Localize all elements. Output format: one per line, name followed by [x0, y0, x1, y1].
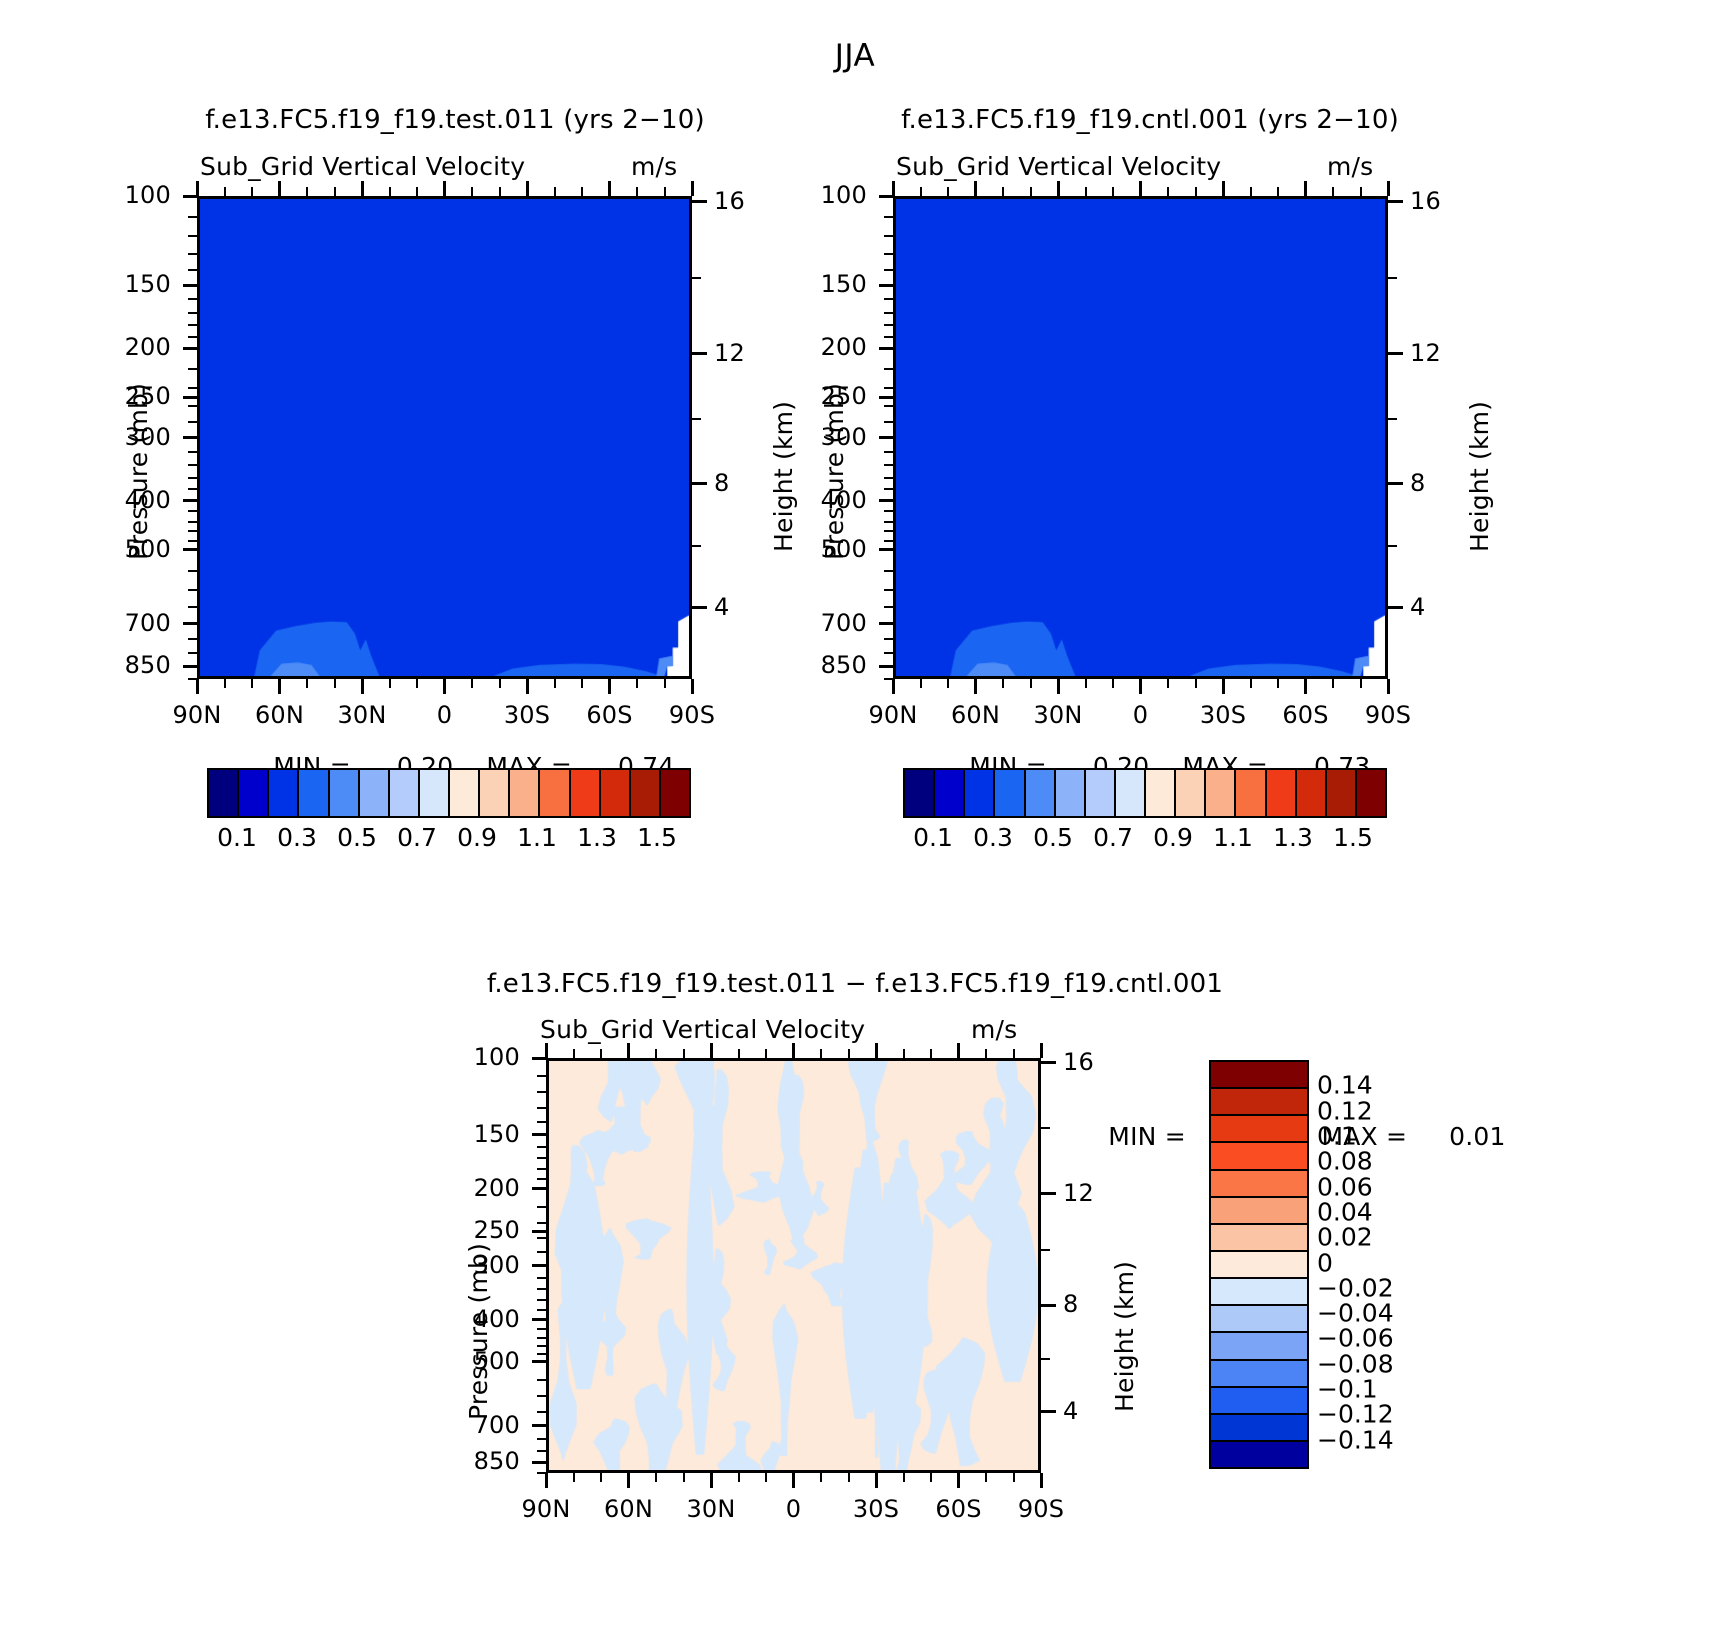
- colorbar-swatch[interactable]: [1211, 1171, 1307, 1198]
- colorbar-tick-label: −0.14: [1317, 1425, 1394, 1454]
- latitude-tick-minor: [636, 679, 638, 688]
- pressure-tick-minor: [537, 1075, 546, 1077]
- pressure-tick-major: [532, 1360, 547, 1363]
- height-tick-label: 16: [1063, 1048, 1094, 1076]
- colorbar-swatch[interactable]: [450, 770, 480, 816]
- pressure-tick-minor: [884, 336, 893, 338]
- latitude-tick-major: [1222, 679, 1225, 694]
- pressure-tick-minor: [537, 1237, 546, 1239]
- colorbar-swatch[interactable]: [510, 770, 540, 816]
- colorbar-swatch[interactable]: [540, 770, 570, 816]
- pressure-tick-minor: [188, 510, 197, 512]
- colorbar-labels-cntl: 0.10.30.50.70.91.11.31.5: [903, 823, 1383, 853]
- latitude-tick-top-major: [545, 1043, 548, 1058]
- latitude-tick-top-major: [1387, 181, 1390, 196]
- pressure-tick-minor: [884, 298, 893, 300]
- colorbar-labels-test: 0.10.30.50.70.91.11.31.5: [207, 823, 687, 853]
- pressure-tick-minor: [884, 405, 893, 407]
- height-tick-minor: [692, 418, 701, 420]
- colorbar-swatch[interactable]: [269, 770, 299, 816]
- colorbar-swatch[interactable]: [631, 770, 661, 816]
- latitude-tick-top-major: [1304, 181, 1307, 196]
- latitude-tick-label: 90S: [669, 701, 715, 729]
- colorbar-tick-label: 1.5: [1333, 823, 1373, 852]
- latitude-tick-minor: [499, 679, 501, 688]
- height-tick-label: 12: [1410, 339, 1441, 367]
- colorbar-swatch[interactable]: [1211, 1333, 1307, 1360]
- latitude-tick-minor: [1002, 679, 1004, 688]
- pressure-tick-minor: [884, 451, 893, 453]
- latitude-tick-major: [278, 679, 281, 694]
- latitude-tick-label: 90N: [868, 701, 917, 729]
- pressure-tick-minor: [884, 216, 893, 218]
- latitude-tick-top-major: [892, 181, 895, 196]
- colorbar-absolute-cntl[interactable]: [903, 768, 1387, 818]
- height-tick-major: [1041, 1410, 1056, 1413]
- pressure-tick-minor: [188, 638, 197, 640]
- colorbar-swatch[interactable]: [905, 770, 935, 816]
- pressure-tick-major: [879, 195, 894, 198]
- pressure-tick-minor: [188, 589, 197, 591]
- panel-units-label-difference: m/s: [971, 1015, 1017, 1044]
- pressure-tick-minor: [188, 336, 197, 338]
- panel-variable-label-cntl: Sub_Grid Vertical Velocity: [896, 152, 1221, 181]
- colorbar-tick-label: 0.7: [1093, 823, 1133, 852]
- height-tick-major: [692, 606, 707, 609]
- colorbar-swatch[interactable]: [1211, 1415, 1307, 1442]
- latitude-tick-top-minor: [1167, 187, 1169, 196]
- pressure-tick-minor: [188, 253, 197, 255]
- pressure-tick-label: 700: [821, 609, 867, 637]
- latitude-tick-top-major: [974, 181, 977, 196]
- colorbar-swatch[interactable]: [1211, 1143, 1307, 1170]
- pressure-tick-major: [879, 499, 894, 502]
- pressure-tick-minor: [537, 1395, 546, 1397]
- latitude-tick-top-minor: [1360, 187, 1362, 196]
- height-tick-minor: [1388, 418, 1397, 420]
- height-tick-label: 16: [714, 187, 745, 215]
- colorbar-swatch[interactable]: [239, 770, 269, 816]
- latitude-tick-top-minor: [1112, 187, 1114, 196]
- height-tick-minor: [1041, 1249, 1050, 1251]
- pressure-tick-minor: [188, 405, 197, 407]
- colorbar-swatch[interactable]: [360, 770, 390, 816]
- max-value-difference: 0.01: [1449, 1122, 1505, 1151]
- pressure-tick-minor: [537, 1168, 546, 1170]
- height-tick-major: [1041, 1192, 1056, 1195]
- latitude-tick-major: [196, 679, 199, 694]
- height-tick-major: [1388, 482, 1403, 485]
- colorbar-swatch[interactable]: [330, 770, 360, 816]
- pressure-tick-minor: [884, 368, 893, 370]
- pressure-tick-minor: [188, 324, 197, 326]
- height-tick-label: 8: [1410, 469, 1425, 497]
- latitude-tick-minor: [765, 1473, 767, 1482]
- height-tick-label: 4: [1063, 1397, 1078, 1425]
- pressure-tick-minor: [188, 570, 197, 572]
- latitude-tick-top-minor: [920, 187, 922, 196]
- pressure-tick-label: 850: [474, 1447, 520, 1475]
- colorbar-swatch[interactable]: [1211, 1279, 1307, 1306]
- pressure-tick-major: [183, 548, 198, 551]
- latitude-tick-minor: [416, 679, 418, 688]
- latitude-tick-top-major: [526, 181, 529, 196]
- colorbar-swatch[interactable]: [1211, 1116, 1307, 1143]
- pressure-tick-minor: [188, 269, 197, 271]
- latitude-tick-top-minor: [664, 187, 666, 196]
- latitude-tick-minor: [306, 679, 308, 688]
- height-tick-major: [692, 200, 707, 203]
- pressure-tick-minor: [537, 1411, 546, 1413]
- colorbar-tick-label: 0.3: [277, 823, 317, 852]
- pressure-tick-label: 300: [474, 1251, 520, 1279]
- colorbar-swatch[interactable]: [1026, 770, 1056, 816]
- latitude-tick-top-minor: [554, 187, 556, 196]
- pressure-tick-major: [879, 665, 894, 668]
- pressure-tick-label: 850: [821, 651, 867, 679]
- colorbar-swatch[interactable]: [935, 770, 965, 816]
- colorbar-swatch[interactable]: [1211, 1252, 1307, 1279]
- pressure-tick-minor: [884, 638, 893, 640]
- colorbar-swatch[interactable]: [480, 770, 510, 816]
- latitude-tick-top-minor: [848, 1049, 850, 1058]
- latitude-tick-top-minor: [499, 187, 501, 196]
- colorbar-tick-label: 0.1: [217, 823, 257, 852]
- min-label-difference: MIN =: [1108, 1122, 1186, 1151]
- pressure-tick-label: 100: [125, 181, 171, 209]
- pressure-tick-minor: [188, 488, 197, 490]
- latitude-tick-major: [691, 679, 694, 694]
- pressure-tick-minor: [884, 269, 893, 271]
- pressure-tick-label: 250: [125, 382, 171, 410]
- colorbar-tick-label: 1.1: [517, 823, 557, 852]
- height-tick-major: [1388, 200, 1403, 203]
- pressure-tick-minor: [188, 464, 197, 466]
- latitude-tick-top-major: [957, 1043, 960, 1058]
- pressure-tick-minor: [884, 312, 893, 314]
- latitude-tick-label: 90S: [1018, 1495, 1064, 1523]
- pressure-tick-major: [183, 436, 198, 439]
- latitude-tick-top-minor: [1332, 187, 1334, 196]
- latitude-tick-label: 90S: [1365, 701, 1411, 729]
- latitude-tick-major: [974, 679, 977, 694]
- pressure-tick-minor: [884, 253, 893, 255]
- latitude-tick-top-major: [1040, 1043, 1043, 1058]
- latitude-tick-minor: [664, 679, 666, 688]
- colorbar-swatch[interactable]: [1146, 770, 1176, 816]
- latitude-tick-top-minor: [1277, 187, 1279, 196]
- colorbar-swatch[interactable]: [1211, 1306, 1307, 1333]
- pressure-tick-minor: [537, 1091, 546, 1093]
- pressure-tick-minor: [188, 451, 197, 453]
- colorbar-swatch[interactable]: [1357, 770, 1385, 816]
- colorbar-tick-label: 0.9: [1153, 823, 1193, 852]
- contour-field-difference: [549, 1061, 1038, 1470]
- colorbar-swatch[interactable]: [1267, 770, 1297, 816]
- height-tick-label: 8: [714, 469, 729, 497]
- pressure-tick-minor: [537, 1438, 546, 1440]
- latitude-tick-top-minor: [903, 1049, 905, 1058]
- latitude-tick-top-major: [278, 181, 281, 196]
- latitude-tick-major: [957, 1473, 960, 1488]
- latitude-tick-top-minor: [573, 1049, 575, 1058]
- latitude-tick-top-minor: [1085, 187, 1087, 196]
- pressure-tick-minor: [537, 1299, 546, 1301]
- pressure-tick-label: 400: [821, 486, 867, 514]
- colorbar-swatch[interactable]: [965, 770, 995, 816]
- latitude-tick-top-minor: [683, 1049, 685, 1058]
- colorbar-swatch[interactable]: [209, 770, 239, 816]
- pressure-tick-minor: [884, 521, 893, 523]
- latitude-tick-top-minor: [224, 187, 226, 196]
- pressure-tick-label: 400: [125, 486, 171, 514]
- colorbar-swatch[interactable]: [1211, 1361, 1307, 1388]
- pressure-tick-major: [183, 665, 198, 668]
- pressure-tick-minor: [884, 477, 893, 479]
- latitude-tick-label: 90N: [172, 701, 221, 729]
- pressure-tick-major: [879, 284, 894, 287]
- pressure-tick-major: [532, 1461, 547, 1464]
- pressure-tick-label: 850: [125, 651, 171, 679]
- height-tick-label: 4: [1410, 593, 1425, 621]
- height-tick-minor: [1388, 277, 1397, 279]
- pressure-tick-minor: [537, 1450, 546, 1452]
- colorbar-tick-label: 0.3: [973, 823, 1013, 852]
- height-tick-major: [692, 352, 707, 355]
- colorbar-swatch[interactable]: [1236, 770, 1266, 816]
- colorbar-difference[interactable]: [1209, 1060, 1309, 1469]
- panel-title-cntl: f.e13.FC5.f19_f19.cntl.001 (yrs 2−10): [755, 105, 1545, 135]
- height-tick-minor: [692, 545, 701, 547]
- pressure-tick-label: 500: [474, 1347, 520, 1375]
- pressure-tick-major: [879, 396, 894, 399]
- colorbar-swatch[interactable]: [390, 770, 420, 816]
- colorbar-swatch[interactable]: [1086, 770, 1116, 816]
- latitude-tick-top-major: [792, 1043, 795, 1058]
- latitude-tick-major: [1304, 679, 1307, 694]
- latitude-tick-major: [875, 1473, 878, 1488]
- latitude-tick-major: [792, 1473, 795, 1488]
- colorbar-swatch[interactable]: [1327, 770, 1357, 816]
- colorbar-tick-label: 0.9: [457, 823, 497, 852]
- latitude-tick-top-minor: [1013, 1049, 1015, 1058]
- latitude-tick-minor: [1167, 679, 1169, 688]
- colorbar-swatch[interactable]: [1211, 1089, 1307, 1116]
- latitude-tick-top-minor: [471, 187, 473, 196]
- pressure-tick-major: [879, 622, 894, 625]
- pressure-tick-major: [532, 1187, 547, 1190]
- latitude-tick-minor: [985, 1473, 987, 1482]
- height-tick-label: 8: [1063, 1290, 1078, 1318]
- latitude-tick-major: [608, 679, 611, 694]
- latitude-tick-top-minor: [930, 1049, 932, 1058]
- pressure-tick-label: 150: [474, 1120, 520, 1148]
- pressure-tick-major: [183, 195, 198, 198]
- colorbar-swatch[interactable]: [1297, 770, 1327, 816]
- colorbar-swatch[interactable]: [601, 770, 631, 816]
- pressure-tick-minor: [884, 464, 893, 466]
- latitude-tick-minor: [930, 1473, 932, 1482]
- colorbar-tick-label: 1.5: [637, 823, 677, 852]
- y2-axis-label-difference: Height (km): [1110, 1261, 1139, 1412]
- pressure-tick-minor: [884, 678, 893, 680]
- panel-units-label-test: m/s: [631, 152, 677, 181]
- height-tick-label: 12: [714, 339, 745, 367]
- colorbar-tick-label: 0.5: [337, 823, 377, 852]
- height-tick-label: 16: [1410, 187, 1441, 215]
- colorbar-swatch[interactable]: [661, 770, 689, 816]
- pressure-tick-minor: [884, 652, 893, 654]
- pressure-tick-minor: [188, 652, 197, 654]
- colorbar-tick-label: 0.5: [1033, 823, 1073, 852]
- pressure-tick-minor: [537, 1146, 546, 1148]
- colorbar-tick-label: 0.7: [397, 823, 437, 852]
- panel-variable-label-difference: Sub_Grid Vertical Velocity: [540, 1015, 865, 1044]
- height-tick-major: [1041, 1061, 1056, 1064]
- pressure-tick-minor: [537, 1206, 546, 1208]
- pressure-tick-minor: [537, 1328, 546, 1330]
- pressure-tick-major: [183, 622, 198, 625]
- pressure-tick-minor: [884, 540, 893, 542]
- latitude-tick-major: [627, 1473, 630, 1488]
- height-tick-minor: [692, 277, 701, 279]
- latitude-tick-top-major: [875, 1043, 878, 1058]
- pressure-tick-minor: [188, 678, 197, 680]
- pressure-tick-minor: [188, 387, 197, 389]
- colorbar-swatch[interactable]: [1211, 1388, 1307, 1415]
- latitude-tick-minor: [1030, 679, 1032, 688]
- colorbar-swatch[interactable]: [420, 770, 450, 816]
- pressure-tick-major: [532, 1057, 547, 1060]
- height-tick-major: [1041, 1304, 1056, 1307]
- colorbar-swatch[interactable]: [1116, 770, 1146, 816]
- latitude-tick-major: [361, 679, 364, 694]
- latitude-tick-minor: [848, 1473, 850, 1482]
- latitude-tick-minor: [1332, 679, 1334, 688]
- latitude-tick-top-minor: [1030, 187, 1032, 196]
- latitude-tick-top-minor: [1002, 187, 1004, 196]
- contour-field-test: [200, 199, 689, 676]
- latitude-tick-minor: [1360, 679, 1362, 688]
- latitude-tick-minor: [820, 1473, 822, 1482]
- latitude-tick-label: 30N: [686, 1495, 735, 1523]
- pressure-tick-major: [879, 347, 894, 350]
- panel-units-label-cntl: m/s: [1327, 152, 1373, 181]
- pressure-tick-minor: [884, 589, 893, 591]
- colorbar-difference-labels: 0.140.120.10.080.060.040.020−0.02−0.04−0…: [1317, 1060, 1447, 1465]
- latitude-tick-major: [545, 1473, 548, 1488]
- pressure-tick-minor: [537, 1288, 546, 1290]
- latitude-tick-minor: [1013, 1473, 1015, 1482]
- pressure-tick-label: 200: [474, 1174, 520, 1202]
- latitude-tick-major: [1057, 679, 1060, 694]
- pressure-tick-minor: [537, 1251, 546, 1253]
- colorbar-swatch[interactable]: [299, 770, 329, 816]
- latitude-tick-major: [443, 679, 446, 694]
- latitude-tick-minor: [389, 679, 391, 688]
- pressure-tick-label: 400: [474, 1305, 520, 1333]
- colorbar-swatch[interactable]: [1211, 1442, 1307, 1467]
- plot-area-cntl[interactable]: [893, 196, 1388, 679]
- pressure-tick-minor: [537, 1121, 546, 1123]
- latitude-tick-minor: [903, 1473, 905, 1482]
- latitude-tick-minor: [471, 679, 473, 688]
- latitude-tick-minor: [1195, 679, 1197, 688]
- pressure-tick-label: 300: [821, 423, 867, 451]
- pressure-tick-minor: [537, 1222, 546, 1224]
- pressure-tick-minor: [884, 530, 893, 532]
- pressure-tick-minor: [188, 421, 197, 423]
- panel-title-test: f.e13.FC5.f19_f19.test.011 (yrs 2−10): [60, 105, 850, 135]
- latitude-tick-major: [1139, 679, 1142, 694]
- pressure-tick-major: [183, 347, 198, 350]
- colorbar-swatch[interactable]: [995, 770, 1025, 816]
- colorbar-swatch[interactable]: [1211, 1198, 1307, 1225]
- latitude-tick-label: 0: [786, 1495, 801, 1523]
- height-tick-major: [1388, 352, 1403, 355]
- plot-area-difference[interactable]: [546, 1058, 1041, 1473]
- latitude-tick-label: 60S: [935, 1495, 981, 1523]
- contour-field-cntl: [896, 199, 1385, 676]
- colorbar-swatch[interactable]: [1176, 770, 1206, 816]
- latitude-tick-minor: [573, 1473, 575, 1482]
- latitude-tick-top-major: [1057, 181, 1060, 196]
- colorbar-swatch[interactable]: [1206, 770, 1236, 816]
- plot-area-test[interactable]: [197, 196, 692, 679]
- pressure-tick-major: [532, 1264, 547, 1267]
- latitude-tick-major: [710, 1473, 713, 1488]
- pressure-tick-minor: [188, 540, 197, 542]
- latitude-tick-top-major: [443, 181, 446, 196]
- latitude-tick-minor: [334, 679, 336, 688]
- colorbar-swatch[interactable]: [1056, 770, 1086, 816]
- latitude-tick-top-major: [608, 181, 611, 196]
- pressure-tick-label: 200: [125, 333, 171, 361]
- pressure-tick-minor: [537, 1353, 546, 1355]
- pressure-tick-label: 100: [474, 1043, 520, 1071]
- colorbar-swatch[interactable]: [571, 770, 601, 816]
- pressure-tick-label: 250: [821, 382, 867, 410]
- panel-variable-label-test: Sub_Grid Vertical Velocity: [200, 152, 525, 181]
- colorbar-absolute-test[interactable]: [207, 768, 691, 818]
- colorbar-tick-label: 0.1: [913, 823, 953, 852]
- colorbar-swatch[interactable]: [1211, 1062, 1307, 1089]
- pressure-tick-minor: [188, 530, 197, 532]
- latitude-tick-minor: [600, 1473, 602, 1482]
- pressure-tick-major: [532, 1230, 547, 1233]
- pressure-tick-minor: [537, 1309, 546, 1311]
- latitude-tick-top-minor: [251, 187, 253, 196]
- latitude-tick-top-minor: [636, 187, 638, 196]
- pressure-tick-minor: [537, 1345, 546, 1347]
- latitude-tick-minor: [581, 679, 583, 688]
- height-tick-label: 4: [714, 593, 729, 621]
- pressure-tick-minor: [188, 477, 197, 479]
- latitude-tick-top-major: [627, 1043, 630, 1058]
- latitude-tick-major: [1040, 1473, 1043, 1488]
- pressure-tick-minor: [537, 1277, 546, 1279]
- pressure-tick-major: [879, 436, 894, 439]
- pressure-tick-label: 700: [125, 609, 171, 637]
- pressure-tick-minor: [884, 387, 893, 389]
- latitude-tick-minor: [251, 679, 253, 688]
- latitude-tick-major: [526, 679, 529, 694]
- colorbar-tick-label: 1.3: [1273, 823, 1313, 852]
- latitude-tick-top-minor: [947, 187, 949, 196]
- latitude-tick-top-major: [691, 181, 694, 196]
- colorbar-swatch[interactable]: [1211, 1225, 1307, 1252]
- latitude-tick-minor: [1085, 679, 1087, 688]
